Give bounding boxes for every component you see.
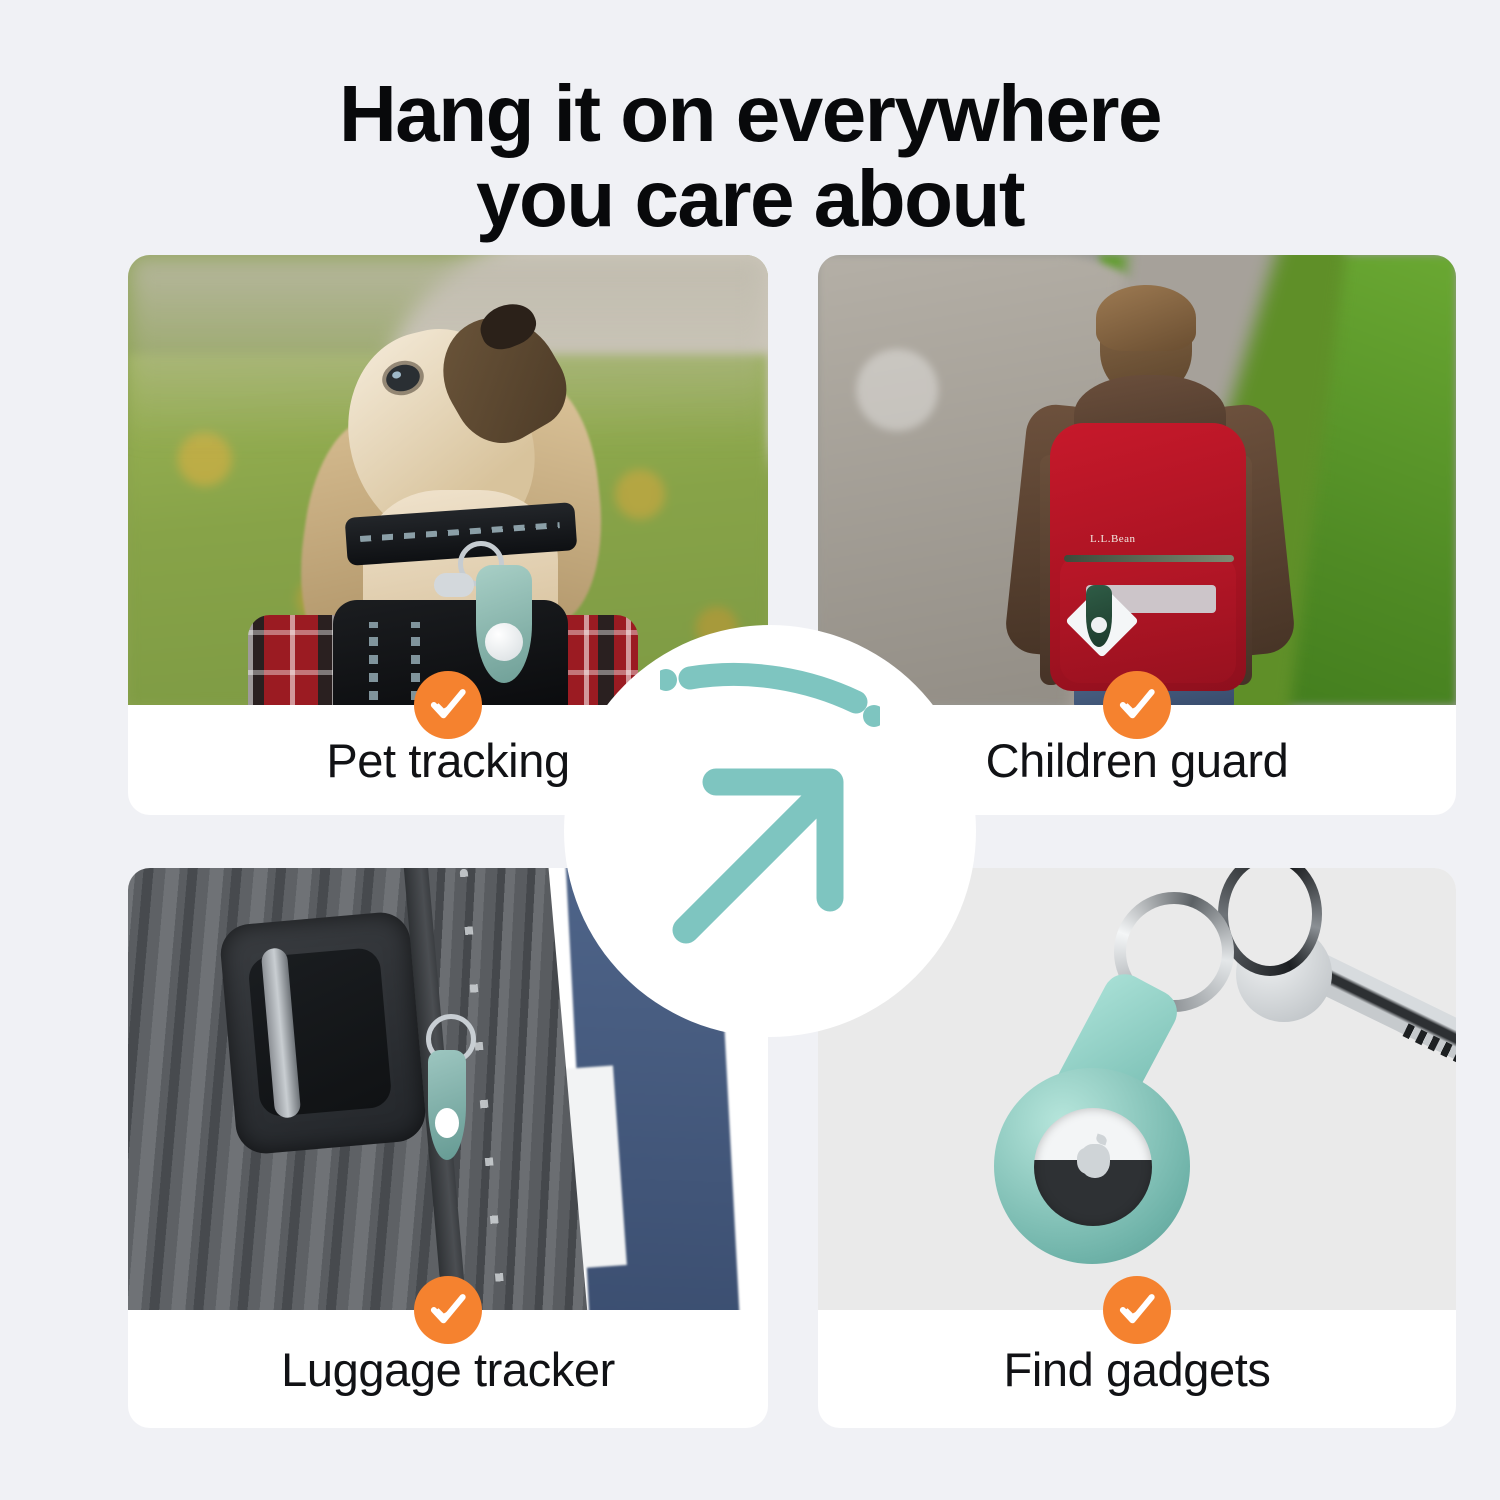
check-badge-icon — [1103, 1276, 1171, 1344]
check-badge-icon — [1103, 671, 1171, 739]
arrow-up-right-icon — [660, 658, 880, 958]
photo-dog-with-airtag-holder — [128, 255, 768, 705]
photo-child-with-backpack-airtag: L.L.Bean — [818, 255, 1456, 705]
backpack-brand-label: L.L.Bean — [1090, 533, 1136, 545]
check-badge-icon — [414, 671, 482, 739]
apple-logo-icon — [1080, 1144, 1110, 1178]
check-badge-icon — [414, 1276, 482, 1344]
